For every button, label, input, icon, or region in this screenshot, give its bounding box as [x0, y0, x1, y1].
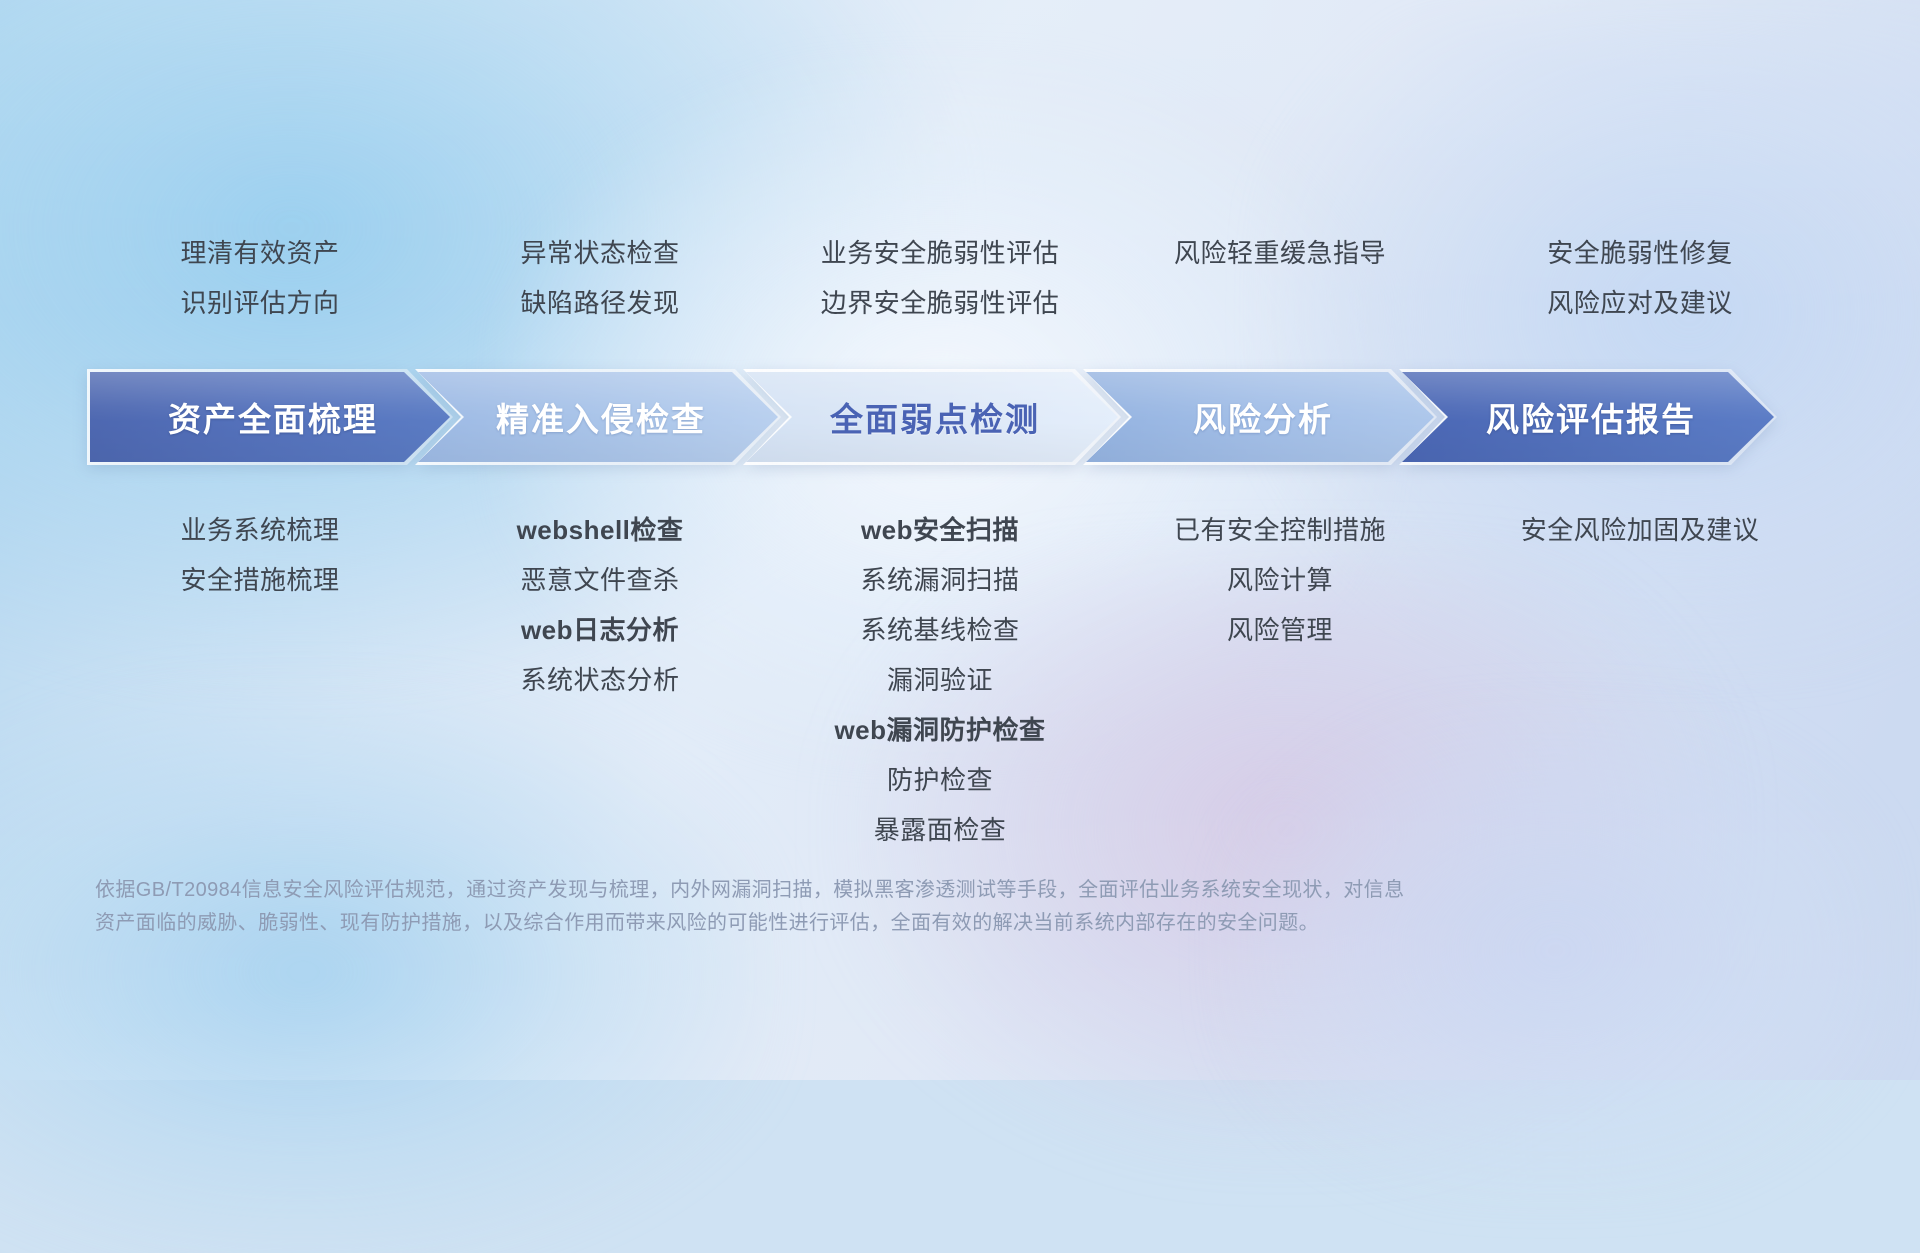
- list-item: 安全风险加固及建议: [1521, 505, 1760, 555]
- footer-line-1: 依据GB/T20984信息安全风险评估规范，通过资产发现与梳理，内外网漏洞扫描，…: [95, 874, 1625, 907]
- list-item: 业务系统梳理: [180, 505, 339, 555]
- infographic-stage: 理清有效资产 识别评估方向 异常状态检查 缺陷路径发现 业务安全脆弱性评估 边界…: [0, 0, 1920, 1080]
- list-item: 理清有效资产: [180, 228, 339, 278]
- chevron-stage-weakness-detection[interactable]: 全面弱点检测: [746, 372, 1118, 462]
- list-item: 系统基线检查: [860, 605, 1019, 655]
- footer-line-2: 资产面临的威胁、脆弱性、现有防护措施，以及综合作用而带来风险的可能性进行评估，全…: [95, 907, 1625, 940]
- list-item: web日志分析: [521, 605, 679, 655]
- list-item: 安全脆弱性修复: [1547, 228, 1733, 278]
- chevron-label: 风险分析: [1187, 393, 1333, 441]
- chevron-label: 精准入侵检查: [490, 393, 706, 441]
- stage-2-top-items: 异常状态检查 缺陷路径发现: [430, 228, 770, 328]
- footer-description: 依据GB/T20984信息安全风险评估规范，通过资产发现与梳理，内外网漏洞扫描，…: [95, 874, 1625, 940]
- list-item: 系统状态分析: [520, 655, 679, 705]
- list-item: 业务安全脆弱性评估: [821, 228, 1060, 278]
- list-item: webshell检查: [517, 505, 684, 555]
- chevron-stage-asset-inventory[interactable]: 资产全面梳理: [90, 372, 450, 462]
- list-item: 漏洞验证: [887, 655, 993, 705]
- stage-5-bottom-items: 安全风险加固及建议: [1450, 505, 1830, 855]
- list-item: 安全措施梳理: [180, 555, 339, 605]
- stage-1-top-items: 理清有效资产 识别评估方向: [90, 228, 430, 328]
- list-item: 恶意文件查杀: [520, 555, 679, 605]
- list-item: 已有安全控制措施: [1174, 505, 1386, 555]
- list-item: web漏洞防护检查: [834, 705, 1045, 755]
- stage-2-bottom-items: webshell检查 恶意文件查杀 web日志分析 系统状态分析: [430, 505, 770, 855]
- stage-1-bottom-items: 业务系统梳理 安全措施梳理: [90, 505, 430, 855]
- list-item: 风险应对及建议: [1547, 278, 1733, 328]
- stage-5-top-items: 安全脆弱性修复 风险应对及建议: [1450, 228, 1830, 328]
- chevron-label: 资产全面梳理: [162, 393, 378, 441]
- list-item: 异常状态检查: [520, 228, 679, 278]
- top-items-row: 理清有效资产 识别评估方向 异常状态检查 缺陷路径发现 业务安全脆弱性评估 边界…: [90, 228, 1830, 328]
- list-item: 风险管理: [1227, 605, 1333, 655]
- list-item: 风险计算: [1227, 555, 1333, 605]
- chevron-label: 风险评估报告: [1480, 393, 1696, 441]
- stage-3-top-items: 业务安全脆弱性评估 边界安全脆弱性评估: [770, 228, 1110, 328]
- list-item: 系统漏洞扫描: [860, 555, 1019, 605]
- stage-4-bottom-items: 已有安全控制措施 风险计算 风险管理: [1110, 505, 1450, 855]
- stage-3-bottom-items: web安全扫描 系统漏洞扫描 系统基线检查 漏洞验证 web漏洞防护检查 防护检…: [770, 505, 1110, 855]
- list-item: 风险轻重缓急指导: [1174, 228, 1386, 278]
- chevron-stage-risk-analysis[interactable]: 风险分析: [1086, 372, 1434, 462]
- list-item: 缺陷路径发现: [520, 278, 679, 328]
- chevron-stage-intrusion-check[interactable]: 精准入侵检查: [418, 372, 778, 462]
- list-item: 边界安全脆弱性评估: [821, 278, 1060, 328]
- list-item: 暴露面检查: [874, 805, 1007, 855]
- stage-4-top-items: 风险轻重缓急指导: [1110, 228, 1450, 328]
- chevron-stage-risk-report[interactable]: 风险评估报告: [1402, 372, 1774, 462]
- list-item: 识别评估方向: [180, 278, 339, 328]
- list-item: web安全扫描: [861, 505, 1019, 555]
- process-chevron-ribbon: 资产全面梳理 精准入侵检查 全面弱点检测 风险分析 风险评估报告: [90, 372, 1830, 462]
- list-item: 防护检查: [887, 755, 993, 805]
- bottom-items-row: 业务系统梳理 安全措施梳理 webshell检查 恶意文件查杀 web日志分析 …: [90, 505, 1830, 855]
- chevron-label: 全面弱点检测: [824, 393, 1040, 441]
